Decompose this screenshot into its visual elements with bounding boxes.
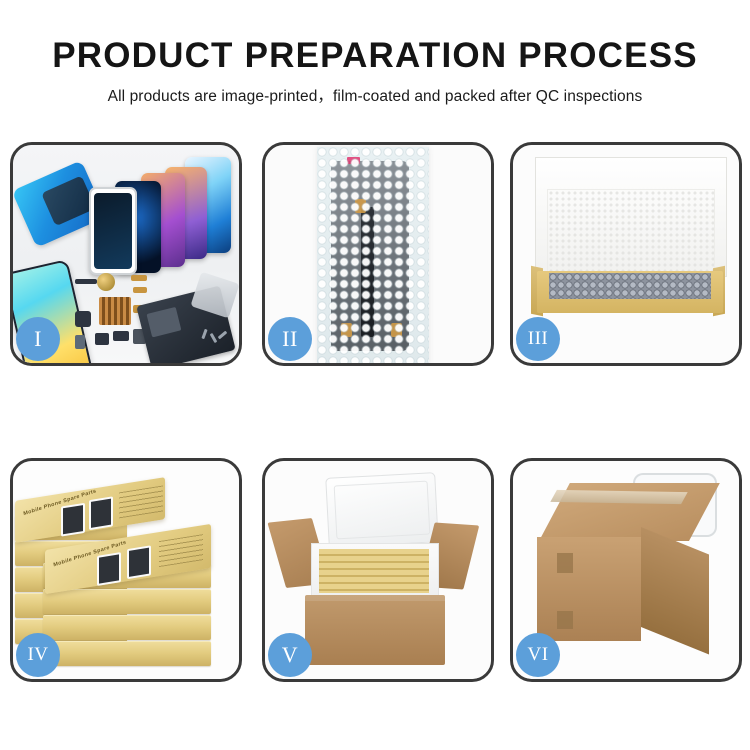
step-badge-2: II (268, 317, 312, 361)
page-subtitle: All products are image-printed，film-coat… (0, 84, 750, 106)
step-badge-1: I (16, 317, 60, 361)
small-part-1 (75, 279, 97, 284)
box-spec-lines-2 (159, 534, 203, 567)
step-badge-4: IV (16, 633, 60, 677)
phone-device-1 (89, 187, 137, 275)
process-step-card-2[interactable]: II (262, 142, 494, 366)
foam-sheet (547, 189, 715, 277)
shipping-carton-body (305, 595, 445, 665)
box-screen-art-2a (97, 552, 121, 586)
process-step-card-1[interactable]: I (10, 142, 242, 366)
chip-grid-part (99, 297, 131, 325)
step-numeral-1: I (34, 326, 42, 352)
small-part-7 (113, 331, 129, 341)
process-step-card-6[interactable]: VI (510, 458, 742, 682)
step-badge-5: V (268, 633, 312, 677)
box-label-1: Mobile Phone Spare Parts (23, 488, 97, 517)
box-spec-lines-1 (119, 485, 163, 518)
foam-cooler-lid (325, 472, 439, 548)
gold-box-r2 (43, 589, 211, 614)
step-badge-6: VI (516, 633, 560, 677)
process-step-card-5[interactable]: V (262, 458, 494, 682)
small-part-6 (95, 333, 109, 345)
screws-group (203, 329, 229, 347)
step-numeral-4: IV (27, 644, 48, 666)
bubble-wrapped-items (549, 273, 711, 299)
process-step-card-4[interactable]: Mobile Phone Spare Parts Mobile Phone Sp… (10, 458, 242, 682)
tape-patch-upper (557, 553, 573, 573)
small-part-3 (133, 287, 147, 293)
tape-patch-lower (557, 611, 573, 629)
packing-tape-strip (550, 490, 687, 504)
coil-part-icon (97, 273, 115, 291)
carton-side-face (641, 527, 709, 654)
bubble-wrap-bag (317, 147, 429, 363)
small-part-2 (131, 275, 147, 281)
product-preparation-infographic: PRODUCT PREPARATION PROCESS All products… (0, 0, 750, 750)
bubble-texture (317, 147, 429, 363)
carton-front-face (537, 537, 641, 641)
step-numeral-3: III (528, 328, 548, 350)
process-steps-grid: I II (10, 142, 742, 724)
box-screen-art-1b (89, 496, 113, 530)
step-numeral-6: VI (527, 644, 548, 666)
box-screen-art-1a (61, 503, 85, 537)
small-part-4 (75, 311, 91, 327)
box-screen-art-2b (127, 545, 151, 579)
step-numeral-2: II (282, 326, 298, 352)
small-part-5 (75, 335, 85, 349)
gold-box-r4 (43, 641, 211, 666)
gold-box-r3 (43, 615, 211, 640)
process-step-card-3[interactable]: III (510, 142, 742, 366)
page-title: PRODUCT PREPARATION PROCESS (0, 36, 750, 76)
step-numeral-5: V (282, 642, 298, 668)
gold-boxes-inside (319, 549, 429, 593)
step-badge-3: III (516, 317, 560, 361)
